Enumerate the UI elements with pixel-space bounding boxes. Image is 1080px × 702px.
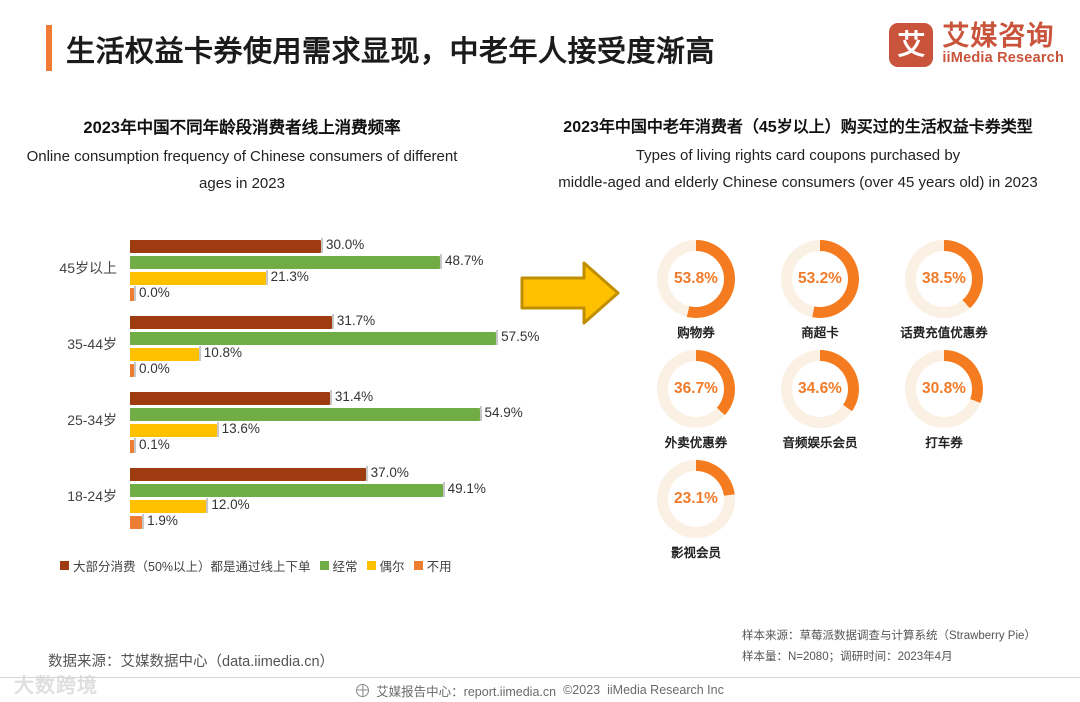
donut-cell: 53.2%商超卡 [760,240,880,341]
infographic-page: 生活权益卡券使用需求显现，中老年人接受度渐高 艾 艾媒咨询 iiMedia Re… [0,0,1080,702]
donut-label: 打车券 [884,432,1004,451]
bar-row: 31.4% [130,390,512,405]
donut-cell: 23.1%影视会员 [636,460,756,561]
bar-value-label: 0.0% [139,361,170,376]
report-center-link[interactable]: 艾媒报告中心：report.iimedia.cn [376,681,556,700]
legend-swatch [367,561,376,570]
bar-value-label: 31.4% [335,389,373,404]
right-title-en-2: middle-aged and elderly Chinese consumer… [520,171,1076,195]
donut-ring: 36.7% [657,350,735,428]
donut-value: 38.5% [922,270,966,288]
donut-cell: 36.7%外卖优惠券 [636,350,756,451]
bar-value-label: 1.9% [147,513,178,528]
bar-value-label: 10.8% [204,345,242,360]
bar-row: 0.1% [130,438,512,453]
donut-center: 53.8% [668,251,724,307]
left-title-en-1: Online consumption frequency of Chinese … [8,145,476,169]
donut-ring: 30.8% [905,350,983,428]
donut-center: 30.8% [916,361,972,417]
bar-segment [130,440,134,453]
bar-row: 1.9% [130,514,512,529]
donut-center: 34.6% [792,361,848,417]
bar-value-label: 49.1% [448,481,486,496]
bar-row: 30.0% [130,238,512,253]
logo-name-en: iiMedia Research [942,50,1064,67]
title-accent-bar [46,25,52,71]
bar-segment [130,316,332,329]
page-header: 生活权益卡券使用需求显现，中老年人接受度渐高 艾 艾媒咨询 iiMedia Re… [0,0,1080,96]
footer-bar: 艾媒报告中心：report.iimedia.cn ©2023 iiMedia R… [0,677,1080,702]
bar-value-label: 48.7% [445,253,483,268]
bar-value-label: 12.0% [211,497,249,512]
donut-ring: 38.5% [905,240,983,318]
bar-value-label: 21.3% [271,269,309,284]
legend-label: 大部分消费（50%以上）都是通过线上下单 [73,556,311,575]
data-source-note: 数据来源：艾媒数据中心（data.iimedia.cn） [48,650,334,671]
legend-swatch [320,561,329,570]
donut-value: 53.2% [798,270,842,288]
bar-row: 57.5% [130,330,512,345]
sample-info: 样本来源：草莓派数据调查与计算系统（Strawberry Pie） 样本量：N=… [742,626,1036,669]
right-arrow-icon [518,258,622,328]
donut-label: 话费充值优惠券 [884,322,1004,341]
bar-value-label: 30.0% [326,237,364,252]
donut-value: 23.1% [674,490,718,508]
donut-ring: 34.6% [781,350,859,428]
sample-source-line: 样本来源：草莓派数据调查与计算系统（Strawberry Pie） [742,626,1036,647]
donut-value: 30.8% [922,380,966,398]
bar-value-label: 13.6% [222,421,260,436]
donut-label: 商超卡 [760,322,880,341]
bar-set: 30.0%48.7%21.3%0.0% [130,238,512,302]
bar-group: 35-44岁31.7%57.5%10.8%0.0% [12,312,512,380]
bar-set: 31.4%54.9%13.6%0.1% [130,390,512,454]
bar-row: 13.6% [130,422,512,437]
bar-segment [130,500,206,513]
donut-center: 36.7% [668,361,724,417]
bar-value-label: 57.5% [501,329,539,344]
bar-row: 10.8% [130,346,512,361]
logo-name-cn: 艾媒咨询 [942,22,1064,50]
donut-cell: 53.8%购物券 [636,240,756,341]
donut-value: 53.8% [674,270,718,288]
donut-label: 影视会员 [636,542,756,561]
legend-item[interactable]: 偶尔 [367,556,405,575]
category-label: 45岁以上 [12,258,117,278]
category-label: 25-34岁 [12,410,117,430]
donut-value: 36.7% [674,380,718,398]
category-label: 35-44岁 [12,334,117,354]
bar-value-label: 31.7% [337,313,375,328]
donut-cell: 30.8%打车券 [884,350,1004,451]
bar-value-label: 54.9% [485,405,523,420]
logo-mark-icon: 艾 [889,23,933,67]
bar-row: 49.1% [130,482,512,497]
donut-cell: 38.5%话费充值优惠券 [884,240,1004,341]
left-title-cn: 2023年中国不同年龄段消费者线上消费频率 [8,116,476,142]
bar-group: 25-34岁31.4%54.9%13.6%0.1% [12,388,512,456]
donut-center: 38.5% [916,251,972,307]
legend-label: 偶尔 [380,556,405,575]
donut-center: 53.2% [792,251,848,307]
donut-label: 音频娱乐会员 [760,432,880,451]
legend-item[interactable]: 大部分消费（50%以上）都是通过线上下单 [60,556,311,575]
brand-logo: 艾 艾媒咨询 iiMedia Research [889,22,1064,68]
bar-segment [130,392,330,405]
coupon-type-donut-grid: 53.8%购物券53.2%商超卡38.5%话费充值优惠券36.7%外卖优惠券34… [636,240,1016,580]
left-title-en-2: ages in 2023 [8,172,476,196]
bar-row: 48.7% [130,254,512,269]
bar-set: 37.0%49.1%12.0%1.9% [130,466,512,530]
legend-label: 经常 [333,556,358,575]
bar-segment [130,484,443,497]
sample-size-line: 样本量：N=2080；调研时间：2023年4月 [742,647,1036,668]
copyright-text: ©2023 [563,683,600,697]
category-label: 18-24岁 [12,486,117,506]
bar-segment [130,272,266,285]
legend-item[interactable]: 不用 [414,556,452,575]
page-title: 生活权益卡券使用需求显现，中老年人接受度渐高 [66,28,715,70]
legend-label: 不用 [427,556,452,575]
bar-set: 31.7%57.5%10.8%0.0% [130,314,512,378]
right-chart-heading: 2023年中国中老年消费者（45岁以上）购买过的生活权益卡券类型 Types o… [520,116,1076,195]
donut-ring: 53.2% [781,240,859,318]
bar-group: 45岁以上30.0%48.7%21.3%0.0% [12,236,512,304]
donut-ring: 53.8% [657,240,735,318]
bar-segment [130,332,496,345]
bar-segment [130,424,217,437]
online-consumption-bar-chart: 45岁以上30.0%48.7%21.3%0.0%35-44岁31.7%57.5%… [12,236,512,546]
legend-item[interactable]: 经常 [320,556,358,575]
bar-segment [130,256,440,269]
bar-value-label: 0.1% [139,437,170,452]
bar-row: 0.0% [130,286,512,301]
bar-segment [130,240,321,253]
legend-swatch [414,561,423,570]
donut-value: 34.6% [798,380,842,398]
bar-row: 12.0% [130,498,512,513]
right-title-cn: 2023年中国中老年消费者（45岁以上）购买过的生活权益卡券类型 [520,116,1076,141]
company-text: iiMedia Research Inc [607,683,724,697]
left-chart-heading: 2023年中国不同年龄段消费者线上消费频率 Online consumption… [8,116,476,196]
bar-chart-legend: 大部分消费（50%以上）都是通过线上下单经常偶尔不用 [60,556,510,575]
bar-segment [130,516,142,529]
donut-label: 购物券 [636,322,756,341]
bar-value-label: 37.0% [371,465,409,480]
bar-row: 31.7% [130,314,512,329]
bar-value-label: 0.0% [139,285,170,300]
globe-icon [356,684,369,697]
donut-cell: 34.6%音频娱乐会员 [760,350,880,451]
bar-segment [130,288,134,301]
bar-row: 21.3% [130,270,512,285]
bar-segment [130,468,366,481]
bar-segment [130,348,199,361]
legend-swatch [60,561,69,570]
bar-row: 54.9% [130,406,512,421]
bar-row: 0.0% [130,362,512,377]
donut-ring: 23.1% [657,460,735,538]
bar-row: 37.0% [130,466,512,481]
donut-label: 外卖优惠券 [636,432,756,451]
donut-center: 23.1% [668,471,724,527]
right-title-en-1: Types of living rights card coupons purc… [520,144,1076,168]
bar-segment [130,408,480,421]
bar-segment [130,364,134,377]
bar-group: 18-24岁37.0%49.1%12.0%1.9% [12,464,512,532]
